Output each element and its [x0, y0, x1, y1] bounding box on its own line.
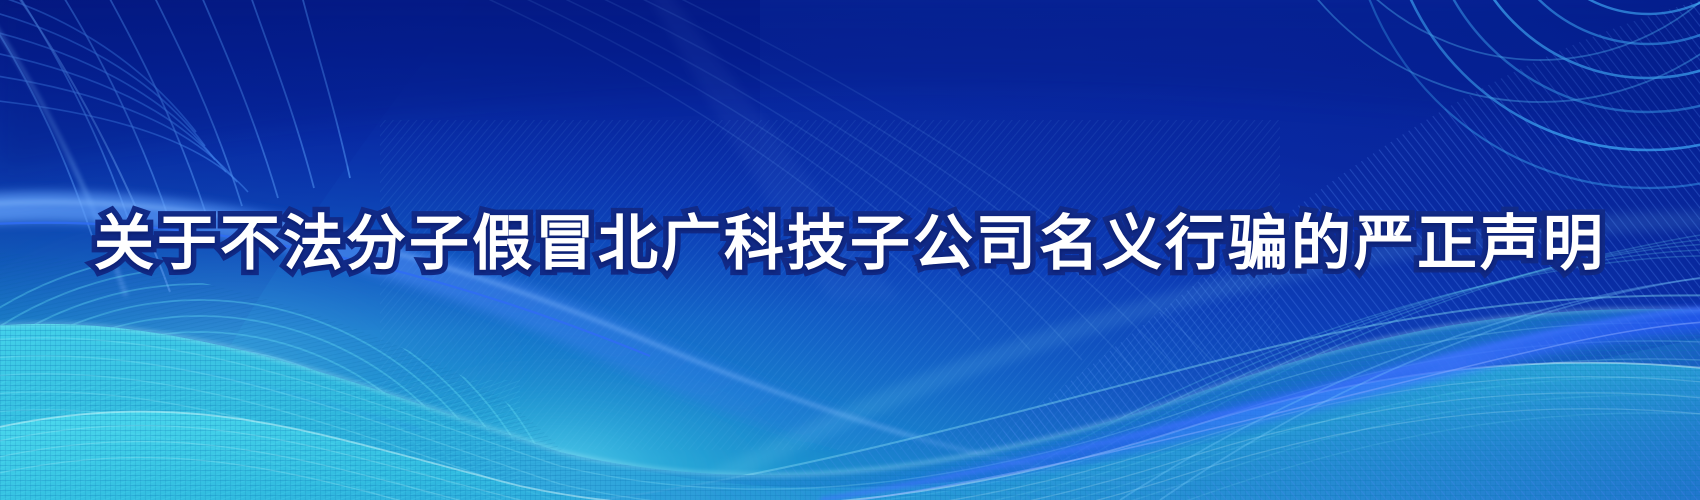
- banner-background: [0, 0, 1700, 500]
- announcement-banner: 关于不法分子假冒北广科技子公司名义行骗的严正声明: [0, 0, 1700, 500]
- bottom-left-fine-mesh: [0, 380, 520, 500]
